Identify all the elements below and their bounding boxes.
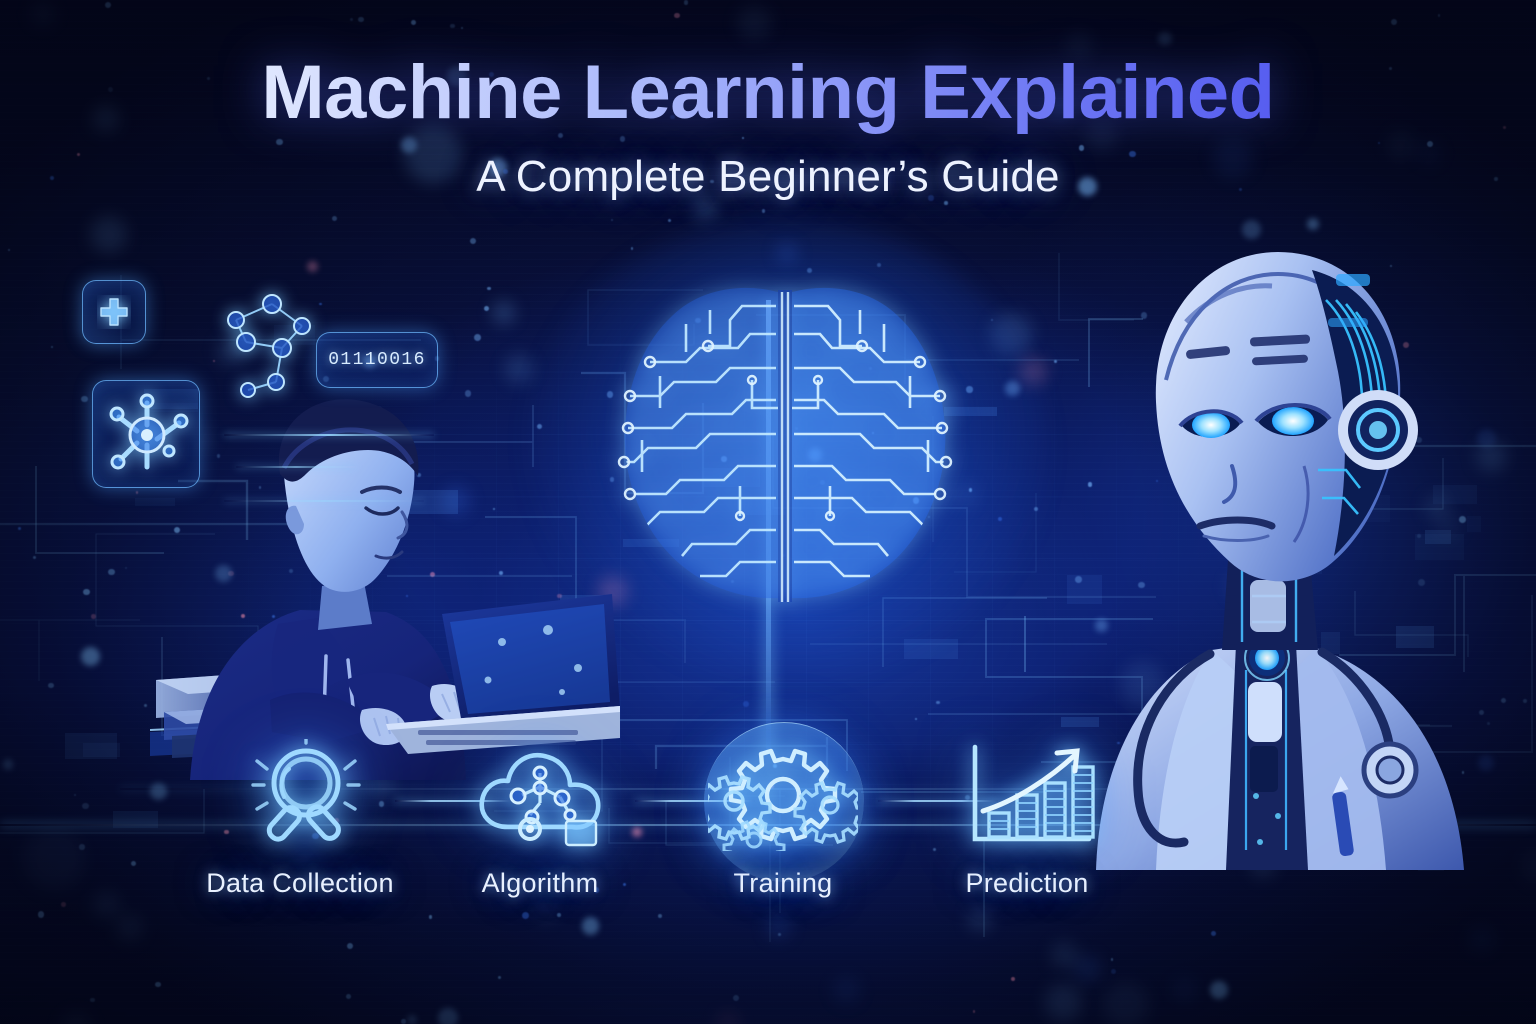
molecule-node-card bbox=[92, 380, 200, 488]
bar-chart-arrow-icon bbox=[912, 736, 1142, 854]
gears-icon bbox=[668, 736, 898, 854]
page-subtitle: A Complete Beginner’s Guide bbox=[0, 152, 1536, 202]
pipeline-step-data-collection[interactable]: Data Collection bbox=[185, 736, 415, 899]
hud-divider-line-1 bbox=[224, 434, 434, 436]
magnifying-glass-icon bbox=[185, 736, 415, 854]
pipeline-step-label: Algorithm bbox=[425, 868, 655, 899]
hero-banner: 01110016 bbox=[0, 0, 1536, 1024]
circuit-brain bbox=[590, 276, 980, 606]
ml-pipeline: Data Collection bbox=[0, 736, 1536, 946]
student-with-laptop bbox=[150, 380, 620, 780]
pipeline-step-label: Data Collection bbox=[185, 868, 415, 899]
pipeline-step-algorithm[interactable]: Algorithm bbox=[425, 736, 655, 899]
pipeline-step-training[interactable]: Training bbox=[668, 736, 898, 899]
pipeline-step-label: Training bbox=[668, 868, 898, 899]
binary-readout-text: 01110016 bbox=[328, 350, 426, 370]
pipeline-step-label: Prediction bbox=[912, 868, 1142, 899]
hud-divider-line-2 bbox=[236, 466, 356, 468]
medical-cross-card bbox=[82, 280, 146, 344]
hud-divider-line-3 bbox=[224, 500, 424, 502]
headings-block: Machine Learning Explained A Complete Be… bbox=[0, 0, 1536, 202]
plus-icon bbox=[97, 295, 131, 329]
atom-icon bbox=[93, 381, 201, 489]
pipeline-step-prediction[interactable]: Prediction bbox=[912, 736, 1142, 899]
page-title: Machine Learning Explained bbox=[0, 52, 1536, 134]
brain-circuit-svg bbox=[590, 276, 980, 606]
cloud-network-icon bbox=[425, 736, 655, 854]
binary-readout-card: 01110016 bbox=[316, 332, 438, 388]
